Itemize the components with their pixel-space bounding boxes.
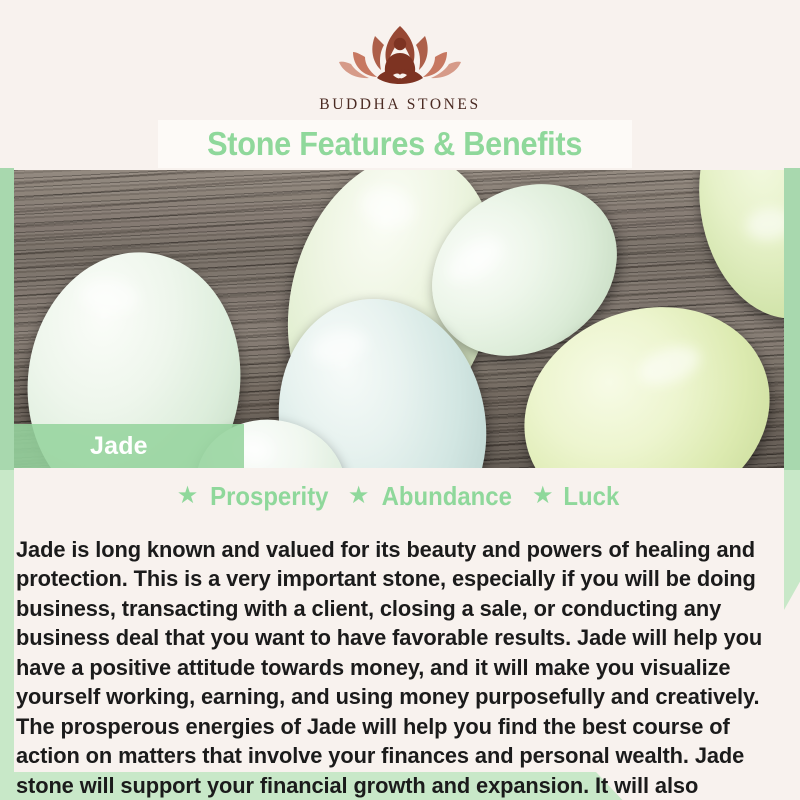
star-icon: ★ — [532, 484, 554, 508]
stone-highlight — [633, 339, 705, 393]
stone-highlight — [441, 230, 509, 290]
stone-highlight — [308, 325, 370, 369]
stone-highlight — [356, 181, 418, 232]
stone-info-card: BUDDHA STONES Stone Features & Benefits — [0, 0, 800, 800]
benefit-label: Prosperity — [210, 481, 328, 512]
stone-highlight — [79, 276, 141, 317]
benefit-item: ★ Luck — [532, 481, 621, 512]
page-title: Stone Features & Benefits — [207, 125, 582, 163]
accent-bar-left-body — [0, 468, 14, 800]
lotus-meditation-icon — [325, 22, 475, 90]
accent-bar-right-body — [784, 468, 800, 610]
brand-name: BUDDHA STONES — [319, 96, 480, 114]
benefit-label: Luck — [563, 481, 619, 512]
accent-bar-right-top — [784, 168, 800, 470]
benefit-item: ★ Abundance — [348, 481, 518, 512]
description-text: Jade is long known and valued for its be… — [16, 535, 765, 800]
stone-name-label: Jade — [14, 424, 244, 468]
star-icon: ★ — [177, 484, 199, 508]
benefit-label: Abundance — [382, 481, 512, 512]
stone-name-text: Jade — [90, 432, 148, 461]
accent-bar-left-top — [0, 168, 14, 470]
benefit-item: ★ Prosperity — [177, 481, 334, 512]
title-banner: Stone Features & Benefits — [158, 120, 632, 168]
star-icon: ★ — [348, 484, 370, 508]
benefits-row: ★ Prosperity ★ Abundance ★ Luck — [14, 478, 784, 514]
